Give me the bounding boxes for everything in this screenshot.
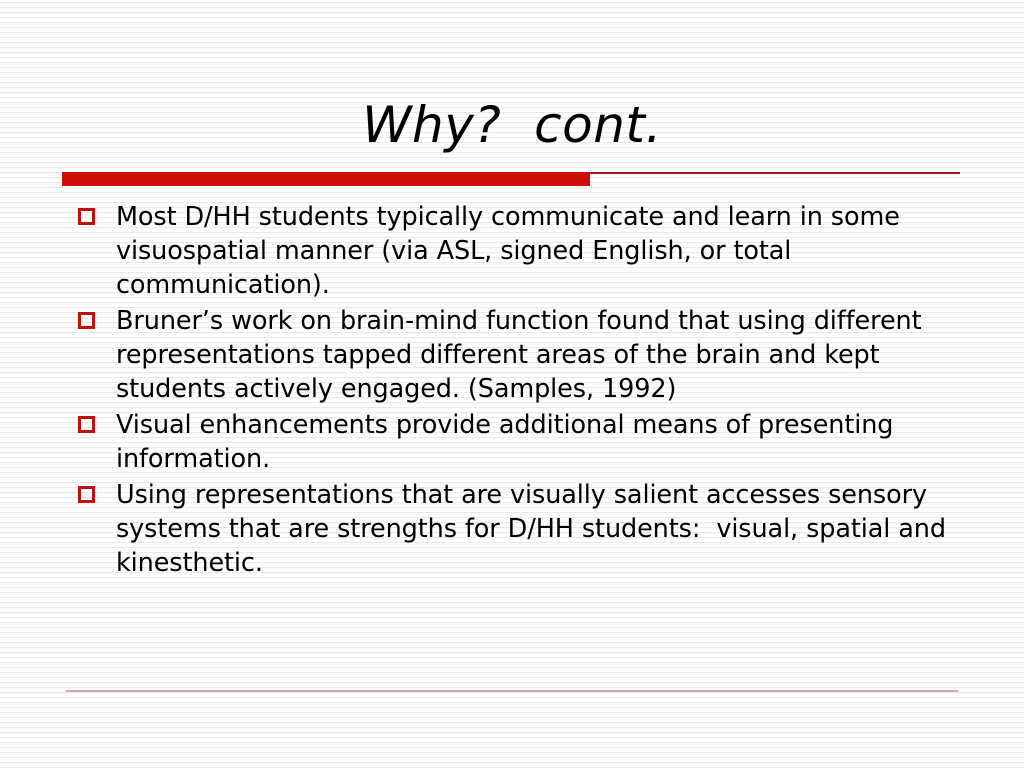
bullet-text: Using representations that are visually …	[116, 478, 958, 580]
page-title: Why? cont.	[60, 96, 964, 154]
bullet-text: Visual enhancements provide additional m…	[116, 408, 958, 476]
presentation-slide: Why? cont. Most D/HH students typically …	[0, 0, 1024, 768]
list-item: Visual enhancements provide additional m…	[78, 408, 958, 476]
bullet-list: Most D/HH students typically communicate…	[78, 200, 958, 582]
list-item: Bruner’s work on brain-mind function fou…	[78, 304, 958, 406]
bullet-text: Most D/HH students typically communicate…	[116, 200, 958, 302]
bullet-text: Bruner’s work on brain-mind function fou…	[116, 304, 958, 406]
square-bullet-icon	[78, 486, 95, 503]
square-bullet-icon	[78, 416, 95, 433]
title-divider	[62, 172, 960, 186]
square-bullet-icon	[78, 208, 95, 225]
footer-divider	[66, 690, 958, 692]
title-area: Why? cont.	[60, 96, 964, 154]
divider-accent-bar	[62, 172, 590, 186]
list-item: Most D/HH students typically communicate…	[78, 200, 958, 302]
list-item: Using representations that are visually …	[78, 478, 958, 580]
square-bullet-icon	[78, 312, 95, 329]
